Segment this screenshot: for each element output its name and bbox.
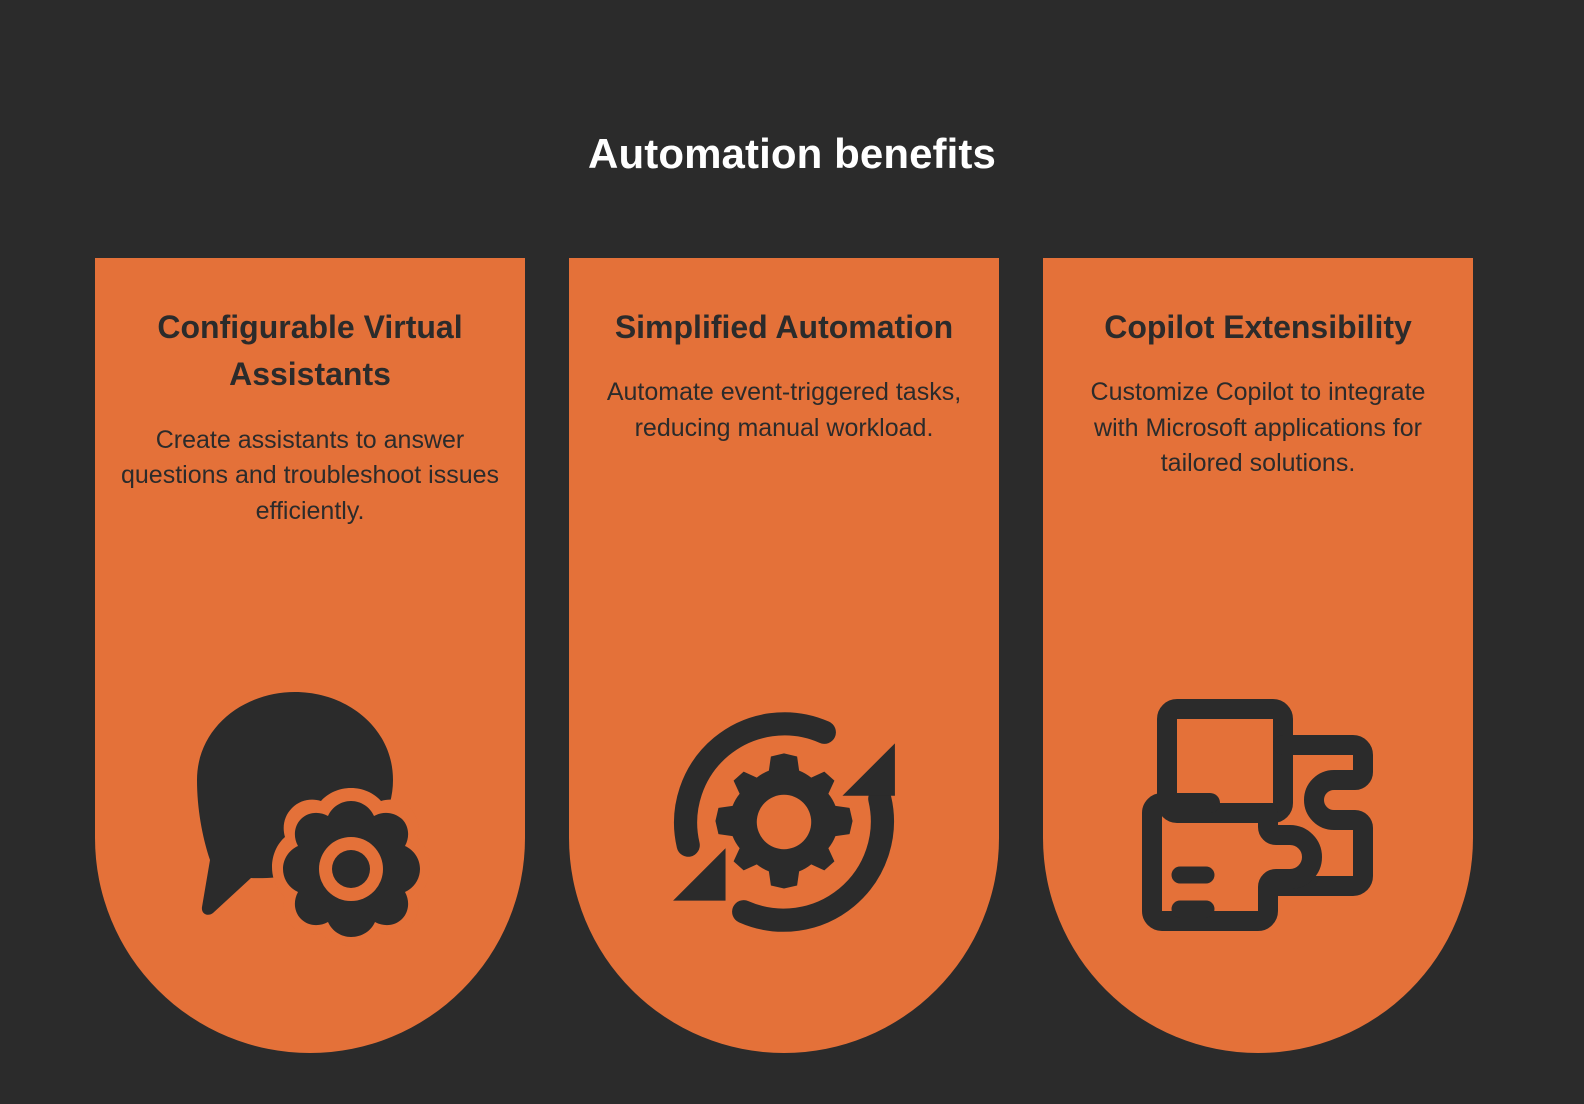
benefit-card: Copilot Extensibility Customize Copilot …: [1043, 258, 1473, 1053]
extensions-puzzle-icon: [1130, 687, 1386, 943]
card-title: Configurable Virtual Assistants: [117, 304, 503, 399]
chat-gear-icon: [177, 684, 443, 950]
refresh-gear-icon: [663, 701, 905, 943]
benefit-card: Simplified Automation Automate event-tri…: [569, 258, 999, 1053]
card-description: Create assistants to answer questions an…: [117, 423, 503, 530]
page-title: Automation benefits: [0, 131, 1584, 177]
benefit-card: Configurable Virtual Assistants Create a…: [95, 258, 525, 1053]
card-description: Customize Copilot to integrate with Micr…: [1065, 375, 1451, 482]
card-title: Simplified Automation: [591, 304, 977, 351]
benefit-card-list: Configurable Virtual Assistants Create a…: [95, 258, 1489, 1053]
card-title: Copilot Extensibility: [1065, 304, 1451, 351]
card-description: Automate event-triggered tasks, reducing…: [591, 375, 977, 446]
